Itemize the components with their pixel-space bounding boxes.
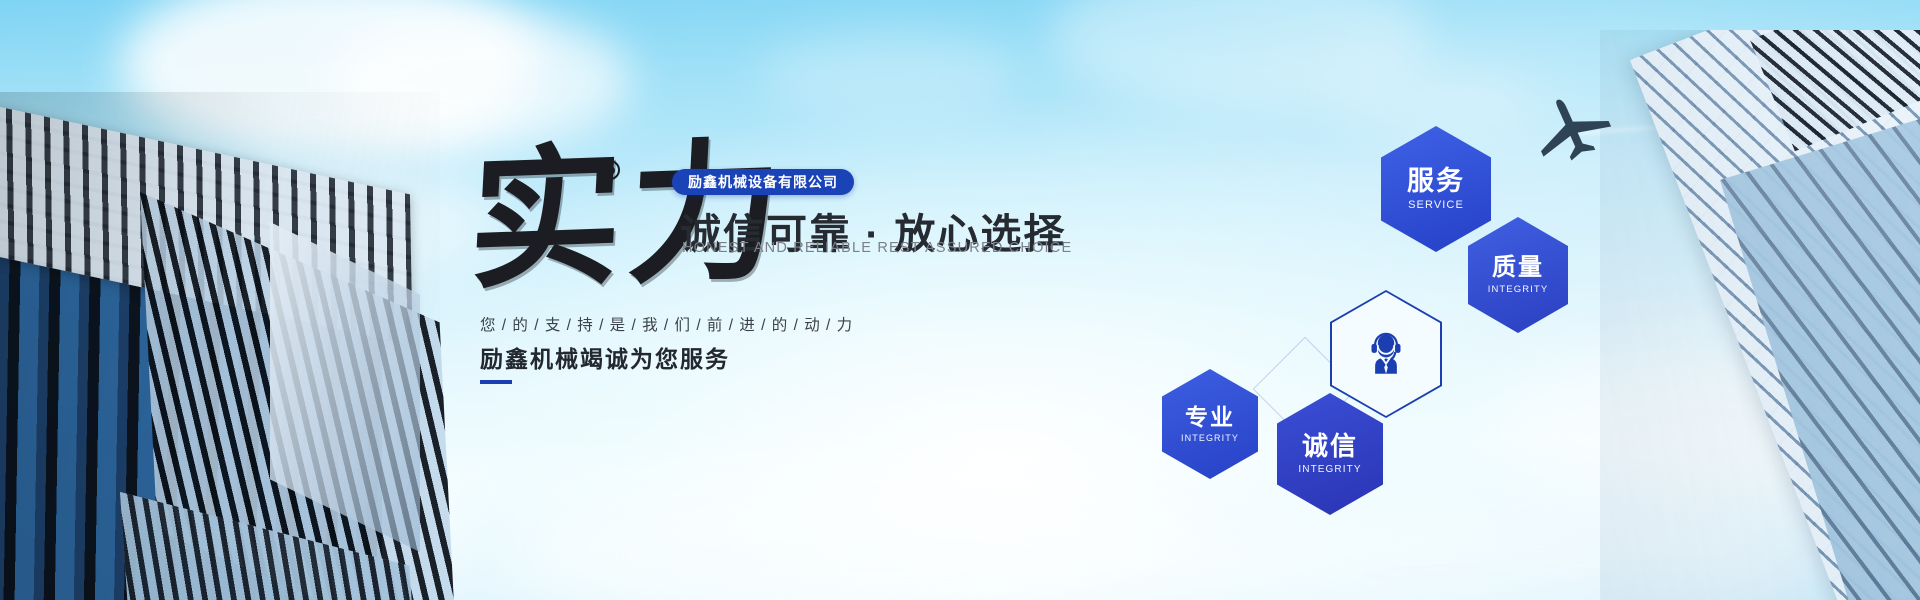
hexagon-label-en: INTEGRITY xyxy=(1181,433,1239,443)
tower-shading xyxy=(1600,30,1920,600)
support-subline: 您 / 的 / 支 / 持 / 是 / 我 / 们 / 前 / 进 / 的 / … xyxy=(480,313,853,335)
hexagon-label-en: INTEGRITY xyxy=(1298,464,1361,475)
cloud xyxy=(760,30,1020,120)
service-mainline: 励鑫机械竭诚为您服务 xyxy=(480,340,730,374)
right-glass-tower-image xyxy=(1600,30,1920,600)
hexagon-customer-service[interactable] xyxy=(1330,290,1442,418)
hexagon-label-cn: 质量 xyxy=(1492,255,1544,280)
accent-dash xyxy=(480,380,512,384)
hexagon-label-en: INTEGRITY xyxy=(1488,284,1549,295)
dot-accent-icon xyxy=(600,160,620,180)
hexagon-label-en: SERVICE xyxy=(1408,199,1464,211)
hexagon-label-cn: 诚信 xyxy=(1302,433,1358,460)
hexagon-label-cn: 专业 xyxy=(1185,405,1235,429)
left-skyscraper-image xyxy=(0,92,440,600)
airplane-icon xyxy=(1530,92,1616,162)
hero-banner: 实力 励鑫机械设备有限公司 诚信可靠 · 放心选择 HONEST AND REL… xyxy=(0,0,1920,600)
company-name-badge: 励鑫机械设备有限公司 xyxy=(672,169,854,195)
slogan-english: HONEST AND RELIABLE REST ASSURED CHOICE xyxy=(682,240,1072,256)
cloud xyxy=(1330,60,1530,130)
building-shading xyxy=(0,92,440,600)
hexagon-label-cn: 服务 xyxy=(1407,167,1465,195)
customer-service-agent-icon xyxy=(1357,323,1415,386)
